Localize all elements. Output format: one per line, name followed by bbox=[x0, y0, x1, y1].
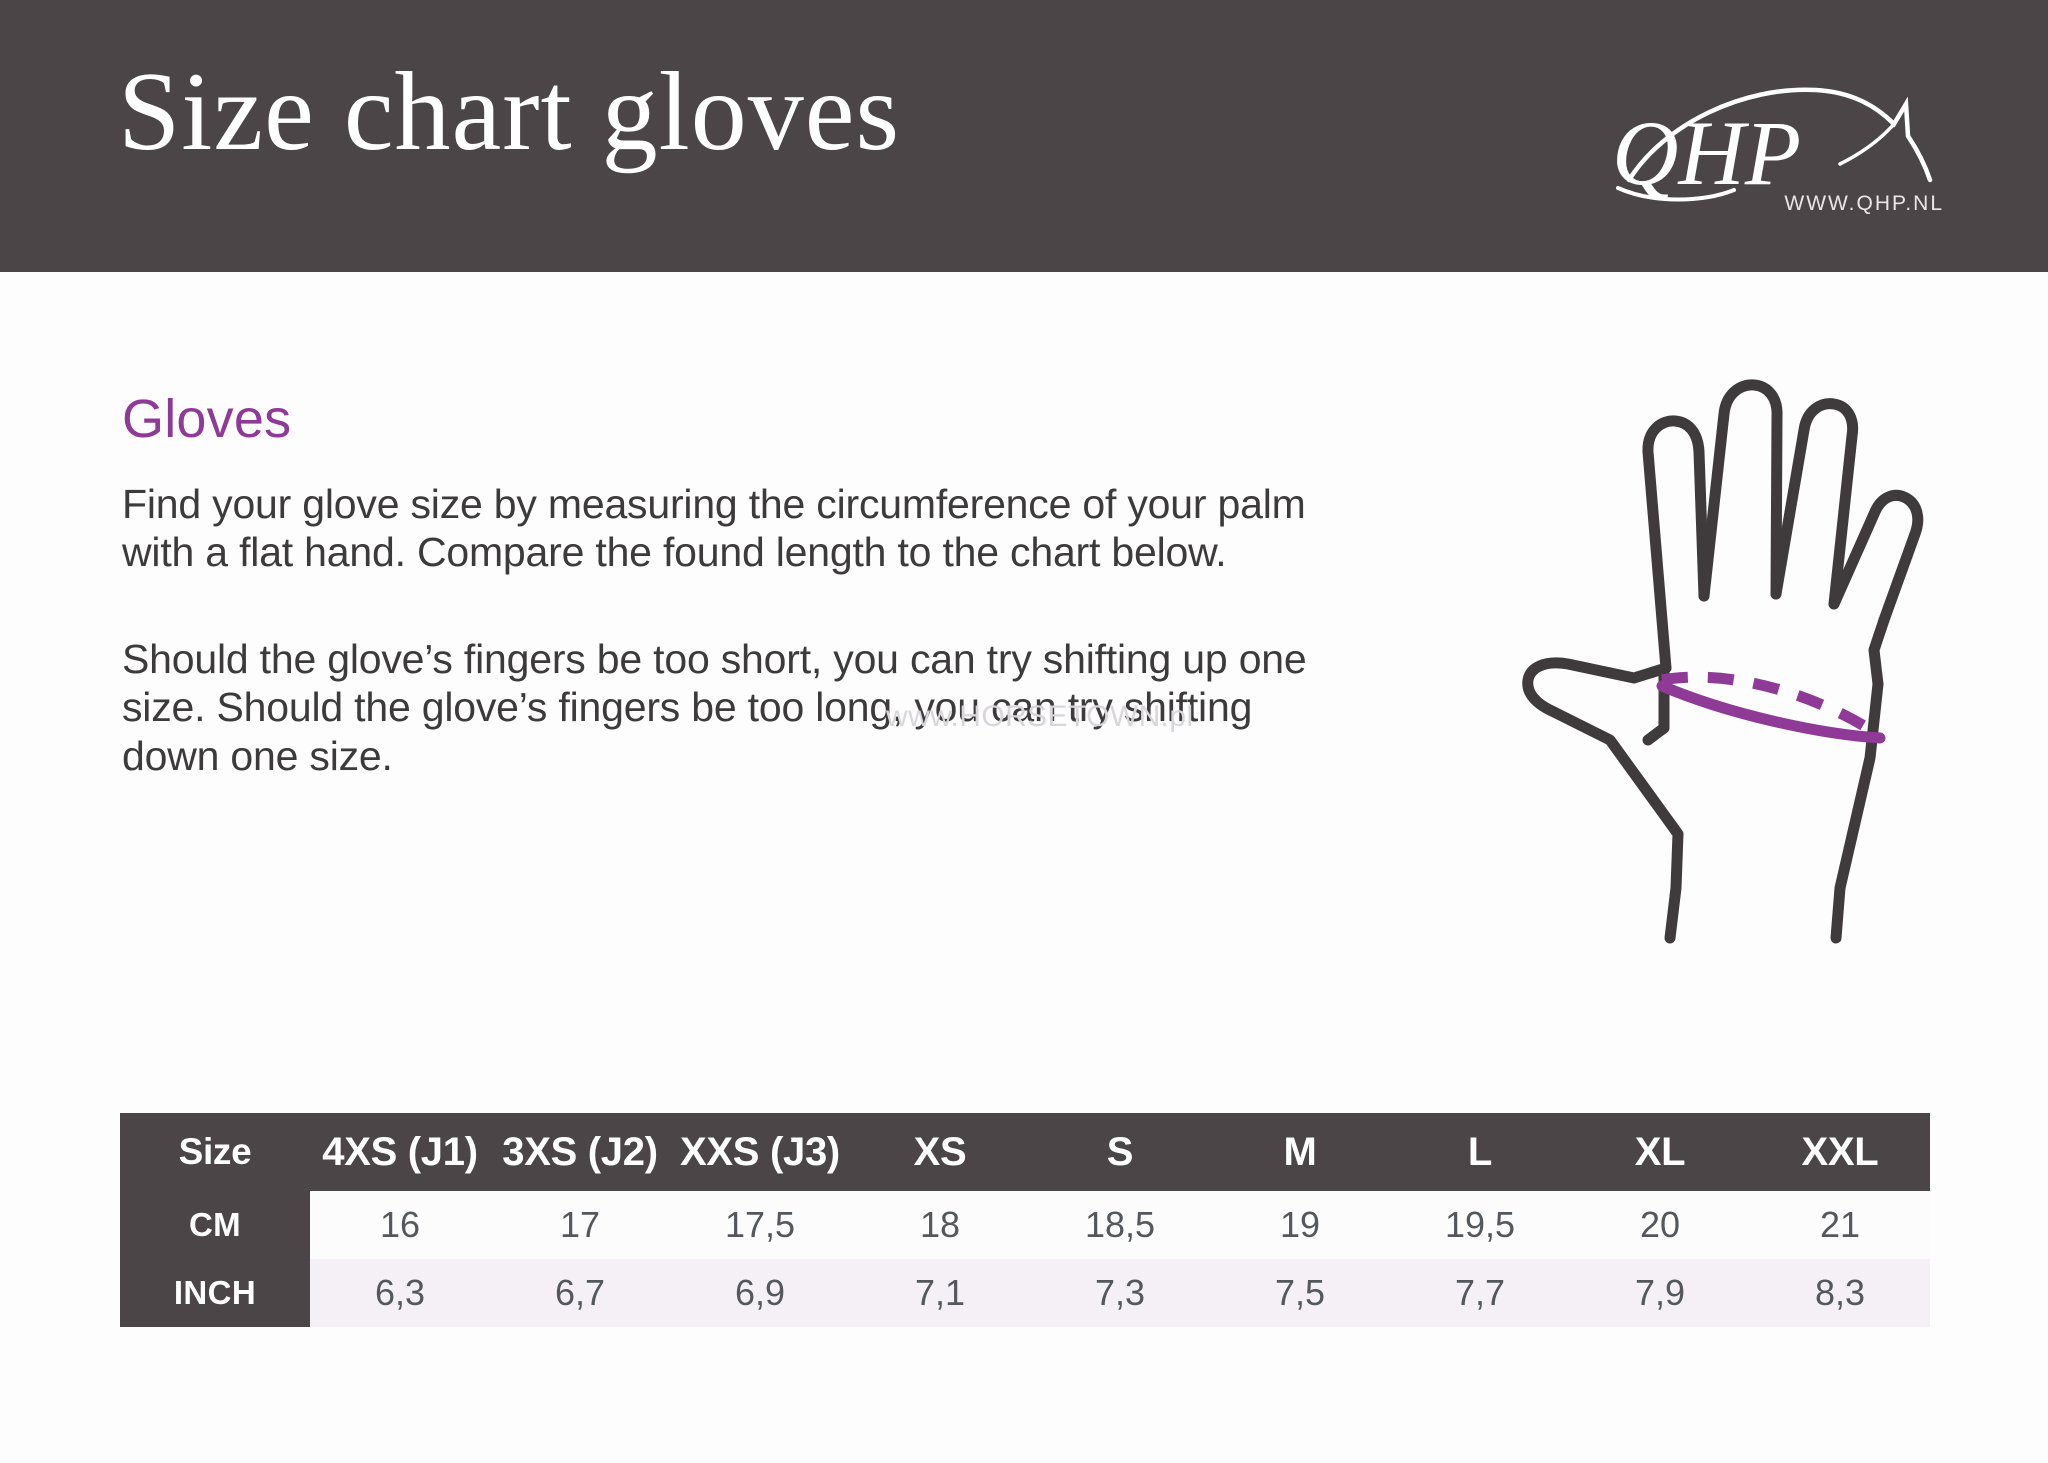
logo-website-url: WWW.QHP.NL bbox=[1784, 192, 1944, 216]
table-row-cm: CM 16 17 17,5 18 18,5 19 19,5 20 21 bbox=[120, 1191, 1930, 1259]
column-header-xl: XL bbox=[1570, 1113, 1750, 1191]
column-header-m: M bbox=[1210, 1113, 1390, 1191]
cell-cm-xxl: 21 bbox=[1750, 1191, 1930, 1259]
column-header-4xs: 4XS (J1) bbox=[310, 1113, 490, 1191]
cell-inch-4xs: 6,3 bbox=[310, 1259, 490, 1327]
column-header-s: S bbox=[1030, 1113, 1210, 1191]
cell-cm-l: 19,5 bbox=[1390, 1191, 1570, 1259]
cell-inch-xl: 7,9 bbox=[1570, 1259, 1750, 1327]
cell-inch-l: 7,7 bbox=[1390, 1259, 1570, 1327]
cell-cm-m: 19 bbox=[1210, 1191, 1390, 1259]
column-header-xxl: XXL bbox=[1750, 1113, 1930, 1191]
measure-line-back bbox=[1662, 677, 1880, 736]
cell-inch-xs: 7,1 bbox=[850, 1259, 1030, 1327]
qhp-logo: QHP bbox=[1594, 62, 1944, 207]
size-table-container: Size 4XS (J1) 3XS (J2) XXS (J3) XS S M L… bbox=[120, 1113, 1930, 1327]
svg-text:QHP: QHP bbox=[1612, 102, 1801, 204]
instruction-paragraph-1: Find your glove size by measuring the ci… bbox=[122, 480, 1352, 577]
column-header-xxs: XXS (J3) bbox=[670, 1113, 850, 1191]
cell-inch-xxs: 6,9 bbox=[670, 1259, 850, 1327]
glove-size-table: Size 4XS (J1) 3XS (J2) XXS (J3) XS S M L… bbox=[120, 1113, 1930, 1327]
instructions-block: Gloves Find your glove size by measuring… bbox=[122, 392, 1352, 780]
cell-cm-xs: 18 bbox=[850, 1191, 1030, 1259]
column-header-l: L bbox=[1390, 1113, 1570, 1191]
row-label-inch: INCH bbox=[120, 1259, 310, 1327]
cell-cm-xl: 20 bbox=[1570, 1191, 1750, 1259]
cell-inch-3xs: 6,7 bbox=[490, 1259, 670, 1327]
cell-inch-m: 7,5 bbox=[1210, 1259, 1390, 1327]
hand-outline-path bbox=[1528, 385, 1918, 938]
row-label-cm: CM bbox=[120, 1191, 310, 1259]
page-title: Size chart gloves bbox=[118, 56, 900, 168]
column-header-3xs: 3XS (J2) bbox=[490, 1113, 670, 1191]
column-header-size: Size bbox=[120, 1113, 310, 1191]
table-row-inch: INCH 6,3 6,7 6,9 7,1 7,3 7,5 7,7 7,9 8,3 bbox=[120, 1259, 1930, 1327]
cell-cm-3xs: 17 bbox=[490, 1191, 670, 1259]
cell-inch-xxl: 8,3 bbox=[1750, 1259, 1930, 1327]
column-header-xs: XS bbox=[850, 1113, 1030, 1191]
table-header-row: Size 4XS (J1) 3XS (J2) XXS (J3) XS S M L… bbox=[120, 1113, 1930, 1191]
cell-cm-xxs: 17,5 bbox=[670, 1191, 850, 1259]
hand-measurement-illustration bbox=[1498, 368, 1948, 958]
page-header-bar: Size chart gloves QHP WWW.QHP.NL bbox=[0, 0, 2048, 272]
size-chart-page: Size chart gloves QHP WWW.QHP.NL Gloves … bbox=[0, 0, 2048, 1463]
cell-cm-s: 18,5 bbox=[1030, 1191, 1210, 1259]
cell-inch-s: 7,3 bbox=[1030, 1259, 1210, 1327]
cell-cm-4xs: 16 bbox=[310, 1191, 490, 1259]
instruction-paragraph-2: Should the glove’s fingers be too short,… bbox=[122, 635, 1352, 780]
section-title: Gloves bbox=[122, 392, 1352, 446]
